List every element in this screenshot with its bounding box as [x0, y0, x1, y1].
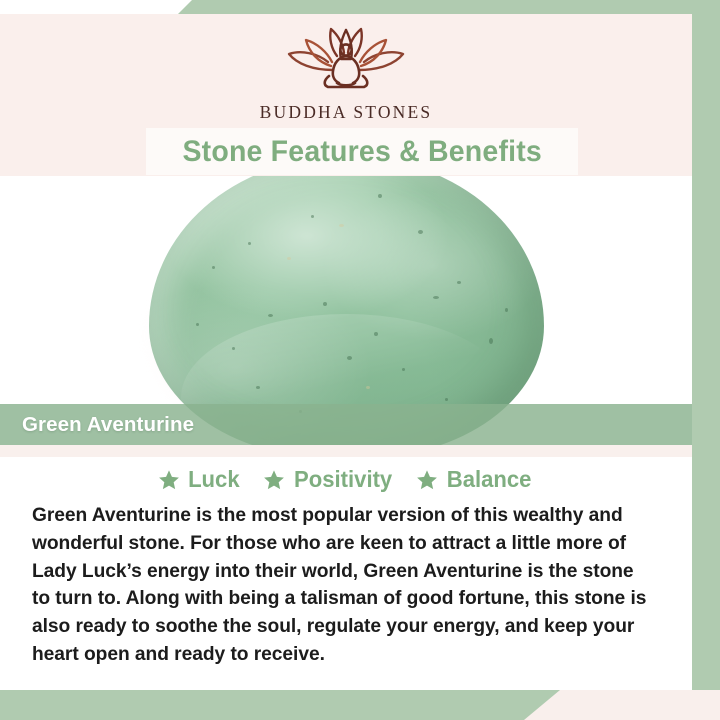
benefit-item: Balance [416, 466, 533, 493]
benefit-item: Luck [158, 466, 241, 493]
brand-logo: BUDDHA STONES [0, 26, 692, 123]
benefit-label: Luck [188, 466, 240, 493]
frame-right-accent [692, 0, 720, 690]
page-title: Stone Features & Benefits [182, 135, 542, 169]
benefit-label: Balance [447, 466, 532, 493]
benefits-list: Luck Positivity Balance [0, 457, 692, 493]
product-label: Green Aventurine [22, 413, 194, 437]
product-label-band: Green Aventurine [0, 404, 692, 445]
frame-bottom-accent [0, 690, 560, 720]
benefit-item: Positivity [263, 466, 394, 493]
divider [0, 445, 692, 457]
content-section: Luck Positivity Balance Green Aventurine… [0, 457, 692, 690]
brand-name: BUDDHA STONES [0, 102, 692, 123]
star-icon [263, 469, 285, 491]
star-icon [416, 469, 438, 491]
lotus-meditation-figure-icon [271, 26, 421, 98]
star-icon [158, 469, 180, 491]
benefit-label: Positivity [294, 466, 392, 493]
title-banner: Stone Features & Benefits [146, 128, 578, 175]
stone-info-card: BUDDHA STONES Stone Features & Benefits [0, 0, 720, 720]
description-text: Green Aventurine is the most popular ver… [32, 502, 656, 669]
